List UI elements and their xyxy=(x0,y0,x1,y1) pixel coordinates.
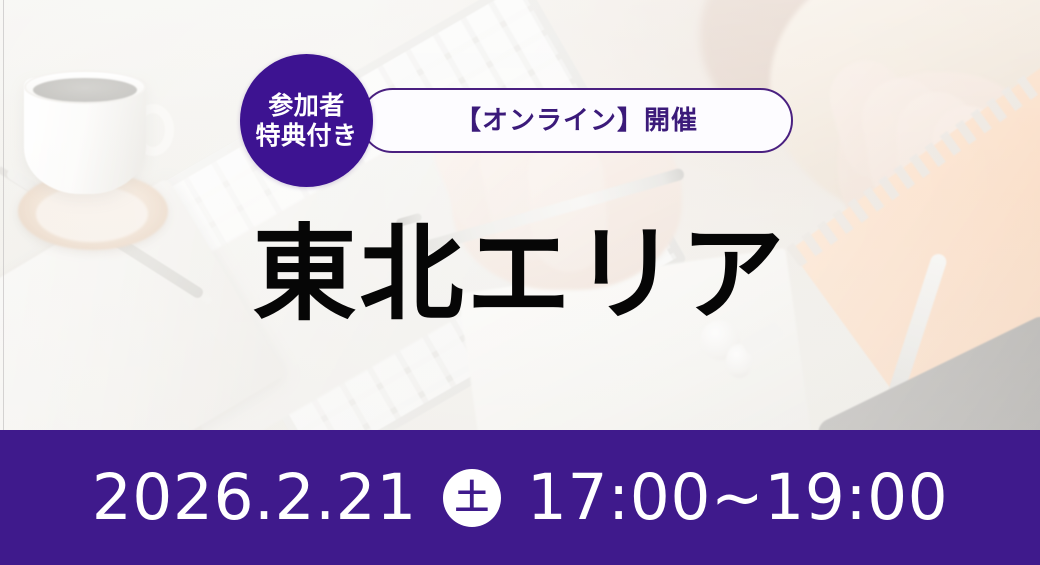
left-edge-line xyxy=(3,0,4,430)
day-of-week-badge: 土 xyxy=(443,469,501,527)
participant-benefit-badge: 参加者 特典付き xyxy=(240,54,373,187)
event-date: 2026.2.21 xyxy=(92,466,417,529)
event-area-title: 東北エリア xyxy=(0,218,1040,330)
event-time: 17:00~19:00 xyxy=(527,466,948,529)
event-datetime-bar: 2026.2.21 土 17:00~19:00 xyxy=(0,430,1040,565)
day-of-week-label: 土 xyxy=(455,481,489,515)
datetime-row: 2026.2.21 土 17:00~19:00 xyxy=(92,466,949,529)
badge-line-2: 特典付き xyxy=(255,121,357,151)
event-banner: 【オンライン】開催 参加者 特典付き 東北エリア 2026.2.21 土 17:… xyxy=(0,0,1040,565)
online-format-pill: 【オンライン】開催 xyxy=(360,88,793,153)
online-format-label: 【オンライン】開催 xyxy=(455,108,698,134)
badge-line-1: 参加者 xyxy=(268,91,345,121)
